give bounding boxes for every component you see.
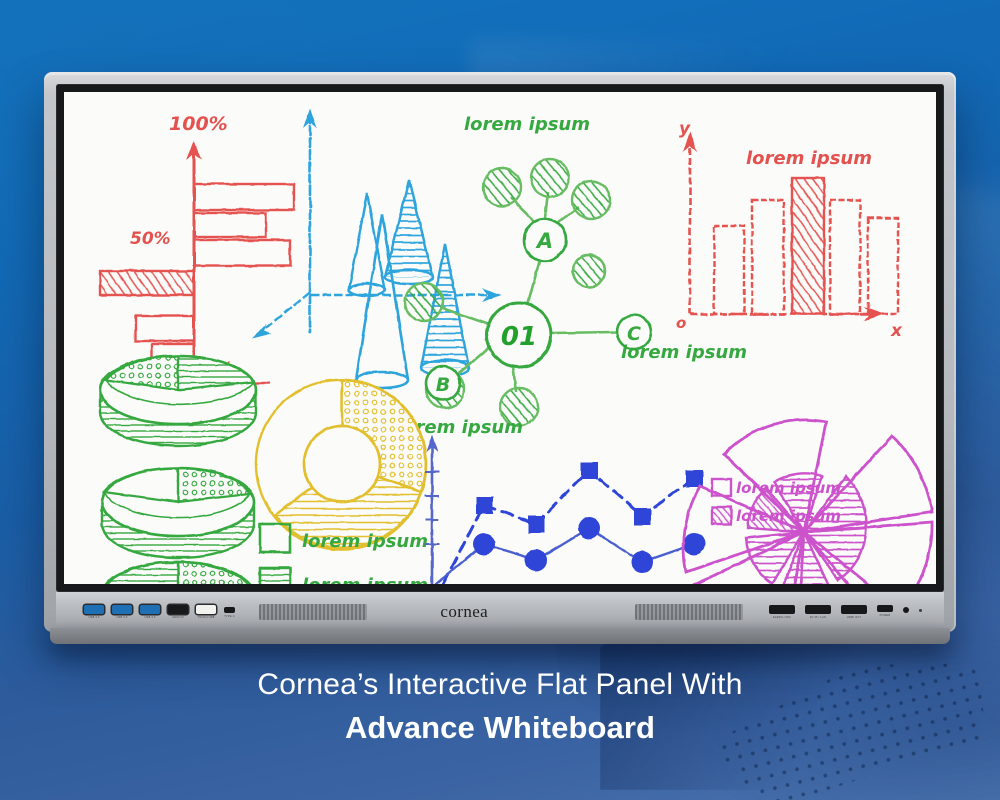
- mindmap-node-a-label: A: [535, 229, 553, 253]
- earphone-mic-port[interactable]: EARPH / MIC: [769, 605, 795, 619]
- caption-block: Cornea’s Interactive Flat Panel With Adv…: [0, 668, 1000, 746]
- legend-magenta-item-0-label: lorem ipsum: [736, 479, 841, 497]
- legend-green[interactable]: [260, 524, 290, 584]
- label-100-percent: 100%: [169, 113, 228, 135]
- caption-line-1: Cornea’s Interactive Flat Panel With: [0, 668, 1000, 702]
- indicator-dot-icon: [919, 609, 922, 612]
- rj45-port-label: RJ 45 / LAN: [810, 616, 826, 619]
- legend-magenta-item-1-label: lorem ipsum: [736, 507, 841, 525]
- chart-pie-disc-2[interactable]: [102, 468, 254, 558]
- column-chart-origin-label: o: [676, 314, 686, 332]
- left-port-cluster[interactable]: USB 3.0 USB 3.0 USB 3.0 HDMI IN TOUCH US…: [84, 605, 235, 619]
- interactive-flat-panel[interactable]: 100% 50% 10%: [44, 72, 956, 632]
- mindmap-right-label: lorem ipsum: [621, 342, 747, 363]
- column-chart-x-axis-label: x: [890, 321, 903, 341]
- hdmi-out-port[interactable]: HDMI OUT: [841, 605, 867, 619]
- right-port-cluster[interactable]: EARPH / MIC RJ 45 / LAN HDMI OUT POWER: [769, 605, 922, 619]
- power-port[interactable]: POWER: [877, 605, 893, 617]
- speaker-grille-right: [635, 604, 743, 620]
- touch-usb-port[interactable]: TOUCH USB: [196, 605, 216, 619]
- device-bezel: USB 3.0 USB 3.0 USB 3.0 HDMI IN TOUCH US…: [56, 592, 944, 632]
- chart-line[interactable]: [425, 434, 705, 584]
- column-chart-y-axis-label: y: [679, 119, 691, 139]
- speaker-grille-left: [259, 604, 367, 620]
- hdmi-in-port[interactable]: HDMI IN: [168, 605, 188, 619]
- usb-port-1[interactable]: USB 3.0: [84, 605, 104, 619]
- column-chart-title: lorem ipsum: [746, 148, 872, 169]
- usb-port-3[interactable]: USB 3.0: [140, 605, 160, 619]
- type-c-icon: [224, 607, 235, 613]
- brand-logo: cornea: [440, 602, 488, 622]
- legend-green-item-0-label: lorem ipsum: [302, 531, 428, 552]
- whiteboard-sketch[interactable]: 100% 50% 10%: [64, 92, 936, 584]
- touch-usb-port-label: TOUCH USB: [197, 616, 214, 619]
- reset-pin[interactable]: [903, 605, 909, 613]
- legend-magenta[interactable]: [712, 479, 731, 524]
- label-50-percent: 50%: [130, 229, 171, 249]
- usb-icon: [84, 605, 104, 614]
- mindmap-node-b-label: B: [436, 374, 450, 396]
- screenshot-root: 100% 50% 10%: [0, 0, 1000, 800]
- hdmi-in-port-label: HDMI IN: [172, 616, 183, 619]
- usb-port-2[interactable]: USB 3.0: [112, 605, 132, 619]
- usb-port-3-label: USB 3.0: [144, 616, 155, 619]
- whiteboard-canvas[interactable]: 100% 50% 10%: [64, 92, 936, 584]
- reset-pin-icon: [903, 607, 909, 613]
- legend-green-item-1-label: lorem ipsum: [302, 575, 428, 584]
- usb-port-1-label: USB 3.0: [88, 616, 99, 619]
- usb-port-2-label: USB 3.0: [116, 616, 127, 619]
- screen-frame: 100% 50% 10%: [56, 84, 944, 592]
- usb-icon: [140, 605, 160, 614]
- chart-radial-petal[interactable]: [684, 420, 932, 584]
- chart-pie-disc-3[interactable]: [102, 562, 254, 584]
- caption-line-2: Advance Whiteboard: [0, 710, 1000, 746]
- power-icon: [877, 605, 893, 612]
- mindmap-top-label: lorem ipsum: [464, 114, 590, 135]
- hdmi-icon: [168, 605, 188, 614]
- usb-icon: [112, 605, 132, 614]
- hdmi-out-icon: [841, 605, 867, 614]
- audio-jack-icon: [769, 605, 795, 614]
- earphone-mic-port-label: EARPH / MIC: [773, 616, 791, 619]
- type-c-port[interactable]: TYPE C: [224, 605, 235, 618]
- rj45-icon: [805, 605, 831, 614]
- hdmi-out-port-label: HDMI OUT: [847, 616, 861, 619]
- chart-pie-disc-1[interactable]: [100, 356, 256, 446]
- power-port-label: POWER: [880, 614, 891, 617]
- indicator-pin: [919, 605, 922, 612]
- mindmap-center-label: 01: [501, 322, 537, 352]
- type-c-port-label: TYPE C: [224, 615, 235, 618]
- rj45-port[interactable]: RJ 45 / LAN: [805, 605, 831, 619]
- usb-b-icon: [196, 605, 216, 614]
- chart-tornado-bar[interactable]: [100, 140, 294, 384]
